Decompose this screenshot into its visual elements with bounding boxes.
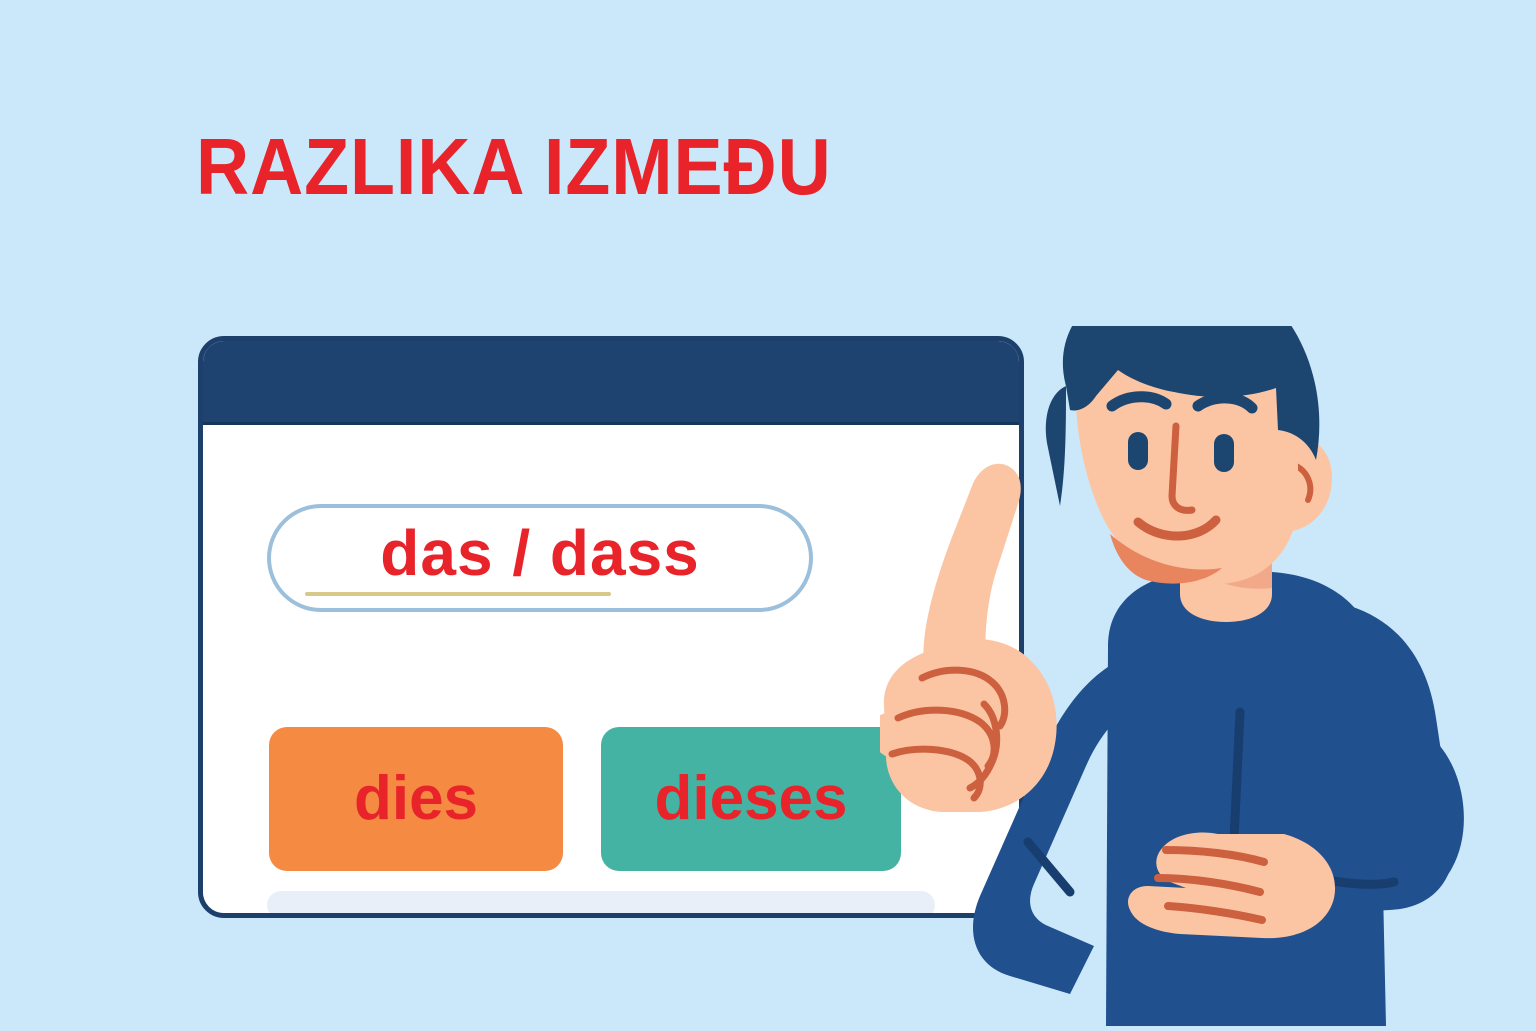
- page-title: RAZLIKA IZMEĐU: [196, 124, 1024, 210]
- term-input-field[interactable]: das / dass: [267, 504, 813, 612]
- choice-chip-dieses[interactable]: dieses: [601, 727, 901, 871]
- choice-chip-dieses-label: dieses: [654, 768, 847, 830]
- eye-right: [1214, 434, 1234, 472]
- eye-left: [1128, 432, 1148, 470]
- hair-sideburn: [1046, 386, 1066, 506]
- choice-chip-dies[interactable]: dies: [269, 727, 563, 871]
- man-pointing-svg: [880, 326, 1536, 1026]
- left-hand-index-finger: [923, 464, 1020, 670]
- term-input-value: das / dass: [271, 516, 809, 590]
- content-placeholder-bar: [267, 891, 935, 918]
- choice-chip-dies-label: dies: [354, 768, 478, 830]
- sweater-torso: [1106, 572, 1386, 1026]
- illustration-man-pointing: [880, 326, 1536, 1026]
- term-input-underline: [305, 592, 611, 596]
- poster-canvas: RAZLIKA IZMEĐU das / dass dies dieses: [0, 0, 1536, 1024]
